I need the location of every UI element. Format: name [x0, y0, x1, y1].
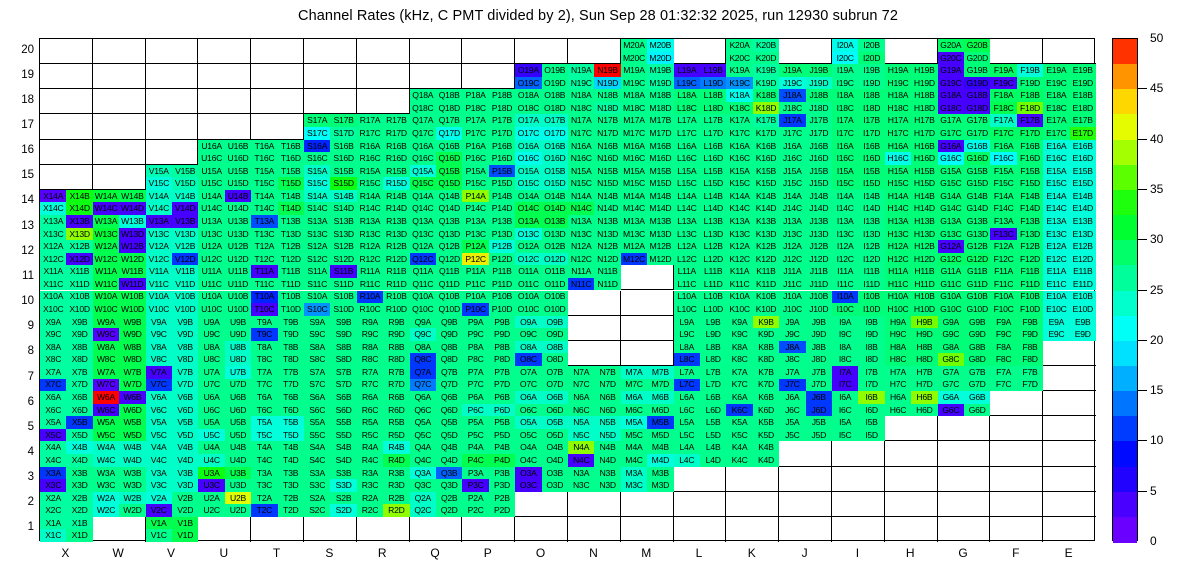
channel-cell: F7B: [1017, 366, 1043, 379]
channel-cell: U2A: [198, 492, 224, 505]
heatmap-tower: [779, 441, 832, 466]
channel-cell: K14A: [726, 190, 752, 203]
channel-cell: I18C: [832, 102, 858, 115]
heatmap-tower: [568, 517, 621, 542]
channel-cell: W10B: [119, 291, 145, 304]
channel-cell: M15B: [647, 165, 673, 178]
channel-cell: P15D: [489, 177, 515, 190]
channel-cell: P2A: [462, 492, 488, 505]
heatmap-tower: V6AV6BV6CV6D: [146, 391, 199, 416]
channel-cell: L9D: [700, 328, 726, 341]
heatmap-tower: V5AV5BV5CV5D: [146, 416, 199, 441]
channel-cell: K5A: [726, 416, 752, 429]
channel-cell: H6A: [885, 391, 911, 404]
heatmap-tower: [621, 265, 674, 290]
colorbar-tick: [1138, 239, 1147, 240]
channel-cell: F19C: [990, 77, 1016, 90]
channel-cell: J13B: [806, 215, 832, 228]
channel-cell: R2B: [383, 492, 409, 505]
heatmap-tower: [198, 89, 251, 114]
heatmap-tower: O7AO7BO7CO7D: [515, 366, 568, 391]
channel-cell: M3B: [647, 467, 673, 480]
channel-cell: U4B: [225, 441, 251, 454]
channel-cell: F14A: [990, 190, 1016, 203]
heatmap-tower: [885, 467, 938, 492]
channel-cell: S8A: [304, 341, 330, 354]
heatmap-tower: [304, 517, 357, 542]
heatmap-tower: [93, 114, 146, 139]
channel-cell: I8B: [858, 341, 884, 354]
channel-cell: E11D: [1070, 278, 1096, 291]
heatmap-tower: I18AI18BI18CI18D: [832, 89, 885, 114]
channel-cell: S6B: [330, 391, 356, 404]
channel-cell: U13C: [198, 228, 224, 241]
channel-cell: L14C: [674, 202, 700, 215]
channel-cell: P14B: [489, 190, 515, 203]
heatmap-tower: R4AR4BR4CR4D: [357, 441, 410, 466]
heatmap-tower: [990, 416, 1043, 441]
channel-cell: F16D: [1017, 152, 1043, 165]
channel-cell: S3A: [304, 467, 330, 480]
channel-cell: Q6B: [436, 391, 462, 404]
channel-cell: I14C: [832, 202, 858, 215]
channel-cell: V7C: [146, 379, 172, 392]
heatmap-tower: S8AS8BS8CS8D: [304, 341, 357, 366]
y-axis-tick-label: 18: [4, 94, 34, 106]
y-axis-tick-label: 8: [4, 345, 34, 357]
heatmap-tower: G12AG12BG12CG12D: [938, 240, 991, 265]
channel-cell: R4D: [383, 454, 409, 467]
channel-cell: T9C: [251, 328, 277, 341]
heatmap-tower: S15AS15BS15CS15D: [304, 165, 357, 190]
heatmap-tower: L14AL14BL14CL14D: [674, 190, 727, 215]
channel-cell: M18B: [647, 89, 673, 102]
channel-cell: W9B: [119, 316, 145, 329]
channel-cell: L18D: [700, 102, 726, 115]
channel-cell: M4A: [621, 441, 647, 454]
channel-cell: H6C: [885, 404, 911, 417]
channel-cell: U6A: [198, 391, 224, 404]
channel-cell: I10A: [832, 291, 858, 304]
channel-cell: R7B: [383, 366, 409, 379]
colorbar-band: [1113, 366, 1137, 392]
channel-cell: X3A: [40, 467, 66, 480]
channel-cell: H12D: [911, 253, 937, 266]
channel-cell: H15C: [885, 177, 911, 190]
channel-cell: V11A: [146, 265, 172, 278]
channel-cell: Q14C: [410, 202, 436, 215]
channel-cell: J7A: [779, 366, 805, 379]
colorbar-band: [1113, 240, 1137, 266]
heatmap-tower: Q17AQ17BQ17CQ17D: [410, 114, 463, 139]
channel-cell: Q18A: [410, 89, 436, 102]
channel-cell: F18C: [990, 102, 1016, 115]
channel-cell: I7D: [858, 379, 884, 392]
channel-cell: W2C: [93, 504, 119, 517]
colorbar-band: [1113, 39, 1137, 65]
heatmap-tower: [251, 517, 304, 542]
channel-cell: U10B: [225, 291, 251, 304]
channel-cell: P7C: [462, 379, 488, 392]
channel-cell: X13A: [40, 215, 66, 228]
colorbar-band: [1113, 114, 1137, 140]
heatmap-tower: G13AG13BG13CG13D: [938, 215, 991, 240]
heatmap-tower: [515, 39, 568, 64]
channel-cell: S17C: [304, 127, 330, 140]
heatmap-tower: [832, 517, 885, 542]
channel-cell: W6B: [119, 391, 145, 404]
channel-cell: N14B: [594, 190, 620, 203]
channel-cell: S2A: [304, 492, 330, 505]
channel-cell: O14A: [515, 190, 541, 203]
channel-cell: F8C: [990, 353, 1016, 366]
heatmap-tower: R17AR17BR17CR17D: [357, 114, 410, 139]
heatmap-tower: P11AP11BP11CP11D: [462, 265, 515, 290]
channel-cell: O18A: [515, 89, 541, 102]
channel-cell: V4D: [172, 454, 198, 467]
channel-cell: X10B: [66, 291, 92, 304]
heatmap-tower: H14AH14BH14CH14D: [885, 190, 938, 215]
x-axis-tick-label: M: [620, 546, 673, 560]
heatmap-tower: N7AN7BN7CN7D: [568, 366, 621, 391]
heatmap-tower: N17AN17BN17CN17D: [568, 114, 621, 139]
channel-cell: J8D: [806, 353, 832, 366]
channel-cell: V6C: [146, 404, 172, 417]
channel-cell: T3D: [278, 479, 304, 492]
channel-cell: Q14D: [436, 202, 462, 215]
heatmap-tower: L16AL16BL16CL16D: [674, 140, 727, 165]
channel-cell: S11B: [330, 265, 356, 278]
channel-cell: N13A: [568, 215, 594, 228]
heatmap-tower: O17AO17BO17CO17D: [515, 114, 568, 139]
channel-cell: J15B: [806, 165, 832, 178]
channel-cell: J18B: [806, 89, 832, 102]
channel-cell: M18A: [621, 89, 647, 102]
channel-cell: E9A: [1043, 316, 1069, 329]
channel-cell: Q17C: [410, 127, 436, 140]
channel-cell: V15A: [146, 165, 172, 178]
channel-cell: T3C: [251, 479, 277, 492]
y-axis-tick-label: 19: [4, 69, 34, 81]
heatmap-tower: [990, 467, 1043, 492]
channel-cell: Q4A: [410, 441, 436, 454]
channel-cell: I9B: [858, 316, 884, 329]
heatmap-tower: G17AG17BG17CG17D: [938, 114, 991, 139]
heatmap-tower: N6AN6BN6CN6D: [568, 391, 621, 416]
colorbar-band: [1113, 64, 1137, 90]
channel-cell: I7A: [832, 366, 858, 379]
channel-cell: V7B: [172, 366, 198, 379]
channel-cell: K15C: [726, 177, 752, 190]
channel-cell: O4D: [542, 454, 568, 467]
channel-cell: V15D: [172, 177, 198, 190]
heatmap-tower: Q18AQ18BQ18CQ18D: [410, 89, 463, 114]
heatmap-tower: N13AN13BN13CN13D: [568, 215, 621, 240]
channel-cell: E16A: [1043, 140, 1069, 153]
heatmap-tower: P10AP10BP10CP10D: [462, 291, 515, 316]
channel-cell: S15A: [304, 165, 330, 178]
channel-cell: P14D: [489, 202, 515, 215]
channel-cell: I15C: [832, 177, 858, 190]
colorbar-tick: [1138, 139, 1147, 140]
channel-cell: M15C: [621, 177, 647, 190]
heatmap-tower: E16AE16BE16CE16D: [1043, 140, 1096, 165]
heatmap-tower: V2AV2BV2CV2D: [146, 492, 199, 517]
channel-cell: U7A: [198, 366, 224, 379]
heatmap-tower: [990, 391, 1043, 416]
channel-cell: I14D: [858, 202, 884, 215]
channel-cell: U9A: [198, 316, 224, 329]
channel-cell: M4B: [647, 441, 673, 454]
channel-cell: V5C: [146, 429, 172, 442]
channel-cell: N15B: [594, 165, 620, 178]
channel-cell: K9C: [726, 328, 752, 341]
heatmap-tower: K20AK20BK20CK20D: [726, 39, 779, 64]
channel-cell: P7D: [489, 379, 515, 392]
channel-cell: F16A: [990, 140, 1016, 153]
heatmap-tower: T10AT10BT10CT10D: [251, 291, 304, 316]
channel-cell: O11B: [542, 265, 568, 278]
channel-cell: X8C: [40, 353, 66, 366]
channel-cell: X5B: [66, 416, 92, 429]
colorbar-tick-label: 0: [1150, 534, 1157, 548]
channel-cell: R8A: [357, 341, 383, 354]
channel-cell: M12D: [647, 253, 673, 266]
channel-cell: K10A: [726, 291, 752, 304]
heatmap-tower: S5AS5BS5CS5D: [304, 416, 357, 441]
channel-cell: X2C: [40, 504, 66, 517]
channel-cell: V14C: [146, 202, 172, 215]
y-axis-tick-label: 16: [4, 144, 34, 156]
channel-cell: Q3D: [436, 479, 462, 492]
channel-cell: Q18B: [436, 89, 462, 102]
channel-cell: Q16B: [436, 140, 462, 153]
channel-cell: J13A: [779, 215, 805, 228]
channel-cell: W12D: [119, 253, 145, 266]
channel-cell: O8D: [542, 353, 568, 366]
heatmap-tower: V11AV11BV11CV11D: [146, 265, 199, 290]
heatmap-tower: G6AG6BG6CG6D: [938, 391, 991, 416]
channel-cell: K19B: [753, 64, 779, 77]
channel-cell: T4A: [251, 441, 277, 454]
channel-cell: S9C: [304, 328, 330, 341]
channel-cell: L7C: [674, 379, 700, 392]
channel-cell: W7D: [119, 379, 145, 392]
channel-cell: T15B: [278, 165, 304, 178]
heatmap-tower: T9AT9BT9CT9D: [251, 316, 304, 341]
heatmap-tower: [40, 114, 93, 139]
channel-cell: N16C: [568, 152, 594, 165]
channel-cell: X12B: [66, 240, 92, 253]
channel-cell: H16C: [885, 152, 911, 165]
heatmap-tower: J15AJ15BJ15CJ15D: [779, 165, 832, 190]
channel-cell: W9A: [93, 316, 119, 329]
channel-cell: I10D: [858, 303, 884, 316]
heatmap-tower: F17AF17BF17CF17D: [990, 114, 1043, 139]
channel-cell: E15B: [1070, 165, 1096, 178]
channel-cell: P8A: [462, 341, 488, 354]
channel-cell: H12B: [911, 240, 937, 253]
channel-cell: Q5D: [436, 429, 462, 442]
heatmap-tower: M18AM18BM18CM18D: [621, 89, 674, 114]
channel-cell: I16D: [858, 152, 884, 165]
channel-cell: E11B: [1070, 265, 1096, 278]
heatmap-tower: R7AR7BR7CR7D: [357, 366, 410, 391]
channel-cell: Q7C: [410, 379, 436, 392]
channel-cell: J9D: [806, 328, 832, 341]
colorbar-band: [1113, 441, 1137, 467]
channel-cell: F9D: [1017, 328, 1043, 341]
channel-cell: O6B: [542, 391, 568, 404]
x-axis-tick-label: G: [937, 546, 990, 560]
channel-cell: S13D: [330, 228, 356, 241]
channel-cell: J7B: [806, 366, 832, 379]
channel-cell: E15A: [1043, 165, 1069, 178]
heatmap-tower: [462, 64, 515, 89]
channel-cell: G18B: [964, 89, 990, 102]
channel-cell: G14C: [938, 202, 964, 215]
channel-cell: U14D: [225, 202, 251, 215]
channel-cell: N16D: [594, 152, 620, 165]
channel-cell: T2D: [278, 504, 304, 517]
channel-cell: P13D: [489, 228, 515, 241]
heatmap-tower: T8AT8BT8CT8D: [251, 341, 304, 366]
channel-cell: L14B: [700, 190, 726, 203]
heatmap-tower: [568, 492, 621, 517]
channel-cell: O17B: [542, 114, 568, 127]
channel-cell: K14D: [753, 202, 779, 215]
channel-cell: K12B: [753, 240, 779, 253]
channel-cell: S8C: [304, 353, 330, 366]
heatmap-tower: G11AG11BG11CG11D: [938, 265, 991, 290]
channel-cell: Q5B: [436, 416, 462, 429]
heatmap-tower: R16AR16BR16CR16D: [357, 140, 410, 165]
colorbar-band: [1113, 190, 1137, 216]
channel-cell: V3A: [146, 467, 172, 480]
channel-cell: P10D: [489, 303, 515, 316]
channel-cell: V13C: [146, 228, 172, 241]
channel-cell: S7B: [330, 366, 356, 379]
heatmap-tower: O8AO8BO8CO8D: [515, 341, 568, 366]
channel-cell: U12B: [225, 240, 251, 253]
heatmap-tower: E12AE12BE12CE12D: [1043, 240, 1096, 265]
channel-cell: H18C: [885, 102, 911, 115]
channel-cell: S4A: [304, 441, 330, 454]
channel-cell: X3D: [66, 479, 92, 492]
heatmap-tower: [40, 64, 93, 89]
channel-cell: M18D: [647, 102, 673, 115]
channel-cell: T16A: [251, 140, 277, 153]
channel-cell: G14D: [964, 202, 990, 215]
channel-cell: N17D: [594, 127, 620, 140]
heatmap-tower: O14AO14BO14CO14D: [515, 190, 568, 215]
channel-cell: N16B: [594, 140, 620, 153]
channel-cell: O19D: [542, 77, 568, 90]
heatmap-tower: M13AM13BM13CM13D: [621, 215, 674, 240]
heatmap-tower: L7AL7BL7CL7D: [674, 366, 727, 391]
channel-cell: V9D: [172, 328, 198, 341]
heatmap-tower: O15AO15BO15CO15D: [515, 165, 568, 190]
heatmap-tower: G18AG18BG18CG18D: [938, 89, 991, 114]
channel-cell: P2D: [489, 504, 515, 517]
channel-cell: P17C: [462, 127, 488, 140]
heatmap-tower: K5AK5BK5CK5D: [726, 416, 779, 441]
heatmap-tower: L4AL4BL4CL4D: [674, 441, 727, 466]
channel-cell: G15A: [938, 165, 964, 178]
channel-cell: N18C: [568, 102, 594, 115]
channel-cell: X13D: [66, 228, 92, 241]
channel-cell: W14C: [93, 202, 119, 215]
heatmap-tower: I12AI12BI12CI12D: [832, 240, 885, 265]
channel-cell: G19C: [938, 77, 964, 90]
channel-cell: K13C: [726, 228, 752, 241]
channel-cell: T15D: [278, 177, 304, 190]
heatmap-tower: [1043, 341, 1096, 366]
channel-cell: Q15A: [410, 165, 436, 178]
channel-cell: W10A: [93, 291, 119, 304]
heatmap-tower: J7AJ7BJ7CJ7D: [779, 366, 832, 391]
channel-cell: V13A: [146, 215, 172, 228]
channel-cell: W13A: [93, 215, 119, 228]
channel-cell: H15D: [911, 177, 937, 190]
channel-cell: X11B: [66, 265, 92, 278]
channel-cell: O3A: [515, 467, 541, 480]
channel-cell: K8C: [726, 353, 752, 366]
channel-cell: I6A: [832, 391, 858, 404]
heatmap-tower: [885, 416, 938, 441]
channel-cell: I20D: [858, 52, 884, 65]
heatmap-tower: E13AE13BE13CE13D: [1043, 215, 1096, 240]
channel-cell: X6D: [66, 404, 92, 417]
channel-cell: H8C: [885, 353, 911, 366]
channel-cell: H10A: [885, 291, 911, 304]
channel-cell: G12A: [938, 240, 964, 253]
channel-cell: O15A: [515, 165, 541, 178]
channel-cell: S12C: [304, 253, 330, 266]
heatmap-tower: K8AK8BK8CK8D: [726, 341, 779, 366]
heatmap-tower: I20AI20BI20CI20D: [832, 39, 885, 64]
colorbar-tick: [1138, 440, 1147, 441]
heatmap-tower: M20AM20BM20CM20D: [621, 39, 674, 64]
channel-cell: U14A: [198, 190, 224, 203]
channel-cell: Q18D: [436, 102, 462, 115]
channel-cell: U11B: [225, 265, 251, 278]
channel-cell: R3A: [357, 467, 383, 480]
y-axis-tick-label: 2: [4, 496, 34, 508]
channel-cell: K17B: [753, 114, 779, 127]
channel-cell: L6C: [674, 404, 700, 417]
page-title: Channel Rates (kHz, C PMT divided by 2),…: [0, 8, 1196, 24]
heatmap-tower: P4AP4BP4CP4D: [462, 441, 515, 466]
channel-cell: I12D: [858, 253, 884, 266]
heatmap-tower: W4AW4BW4CW4D: [93, 441, 146, 466]
channel-cell: R9C: [357, 328, 383, 341]
heatmap-tower: F19AF19BF19CF19D: [990, 64, 1043, 89]
channel-cell: L16A: [674, 140, 700, 153]
heatmap-tower: E14AE14BE14CE14D: [1043, 190, 1096, 215]
channel-cell: X14B: [66, 190, 92, 203]
heatmap-tower: M12AM12BM12CM12D: [621, 240, 674, 265]
channel-cell: J14C: [779, 202, 805, 215]
channel-cell: H12A: [885, 240, 911, 253]
channel-cell: U5D: [225, 429, 251, 442]
colorbar-band: [1113, 291, 1137, 317]
channel-cell: N7D: [594, 379, 620, 392]
channel-cell: Q14A: [410, 190, 436, 203]
channel-cell: R17D: [383, 127, 409, 140]
channel-cell: E10D: [1070, 303, 1096, 316]
channel-cell: T9D: [278, 328, 304, 341]
